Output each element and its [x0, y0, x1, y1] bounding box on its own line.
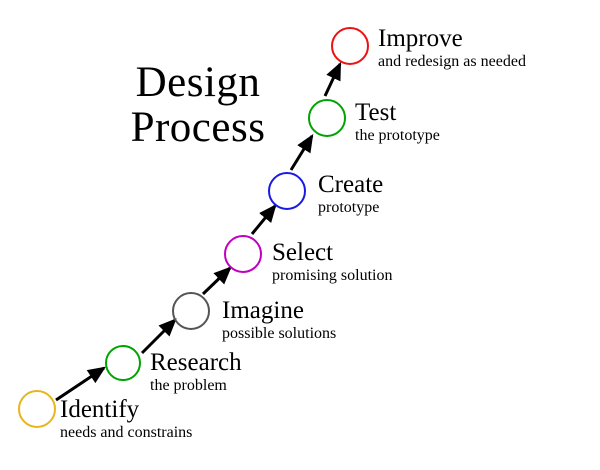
step-label-test: Testthe prototype [355, 100, 440, 145]
step-desc-imagine: possible solutions [222, 325, 336, 343]
step-label-imagine: Imaginepossible solutions [222, 298, 336, 343]
step-label-improve: Improveand redesign as needed [378, 26, 526, 71]
arrow-test-to-improve [325, 64, 340, 96]
step-label-select: Selectpromising solution [272, 240, 392, 285]
step-desc-research: the problem [150, 377, 242, 395]
step-circle-research[interactable] [105, 345, 141, 381]
step-name-select: Select [272, 240, 392, 265]
step-name-research: Research [150, 350, 242, 375]
arrow-select-to-create [252, 206, 275, 234]
step-name-imagine: Imagine [222, 298, 336, 323]
step-circle-improve[interactable] [331, 27, 369, 65]
step-name-improve: Improve [378, 26, 526, 51]
step-circle-imagine[interactable] [172, 292, 210, 330]
step-desc-improve: and redesign as needed [378, 53, 526, 71]
step-desc-test: the prototype [355, 127, 440, 145]
step-label-research: Researchthe problem [150, 350, 242, 395]
step-name-test: Test [355, 100, 440, 125]
step-desc-create: prototype [318, 199, 383, 217]
step-desc-select: promising solution [272, 267, 392, 285]
arrow-imagine-to-select [203, 268, 230, 294]
step-label-identify: Identifyneeds and constrains [60, 397, 192, 442]
arrow-create-to-test [291, 136, 312, 170]
step-label-create: Createprototype [318, 172, 383, 217]
step-circle-select[interactable] [224, 235, 262, 273]
step-desc-identify: needs and constrains [60, 424, 192, 442]
step-circle-test[interactable] [308, 99, 346, 137]
step-circle-identify[interactable] [18, 390, 56, 428]
step-name-create: Create [318, 172, 383, 197]
step-name-identify: Identify [60, 397, 192, 422]
step-circle-create[interactable] [268, 172, 306, 210]
design-process-diagram: Design Process Identifyneeds and constra… [0, 0, 600, 470]
